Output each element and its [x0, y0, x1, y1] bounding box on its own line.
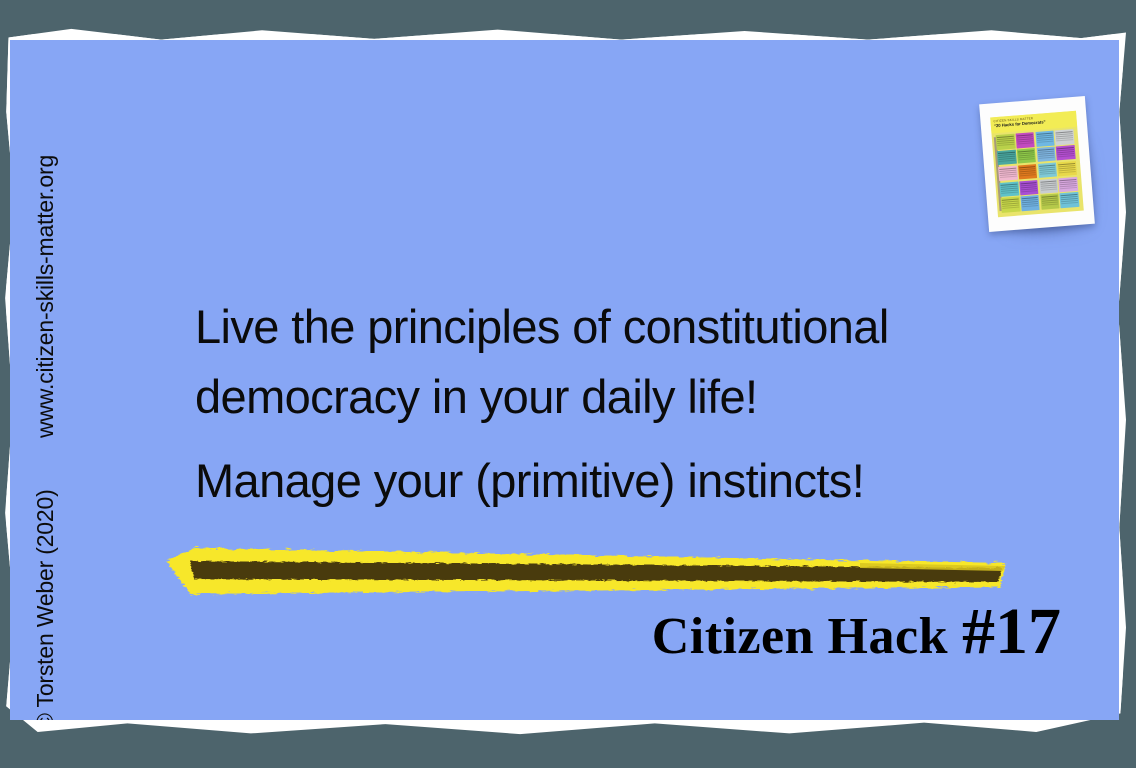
poster-mini-card [1017, 148, 1037, 164]
poster-mini-card [1035, 131, 1055, 147]
poster-mini-card [1018, 164, 1038, 180]
message-line-3: Manage your (primitive) instincts! [195, 446, 1025, 516]
highlighter-dark-core [190, 561, 1002, 582]
hack-number: #17 [962, 594, 1061, 670]
poster-mini-card [1055, 129, 1075, 145]
paragraph-spacer [195, 432, 1025, 446]
side-credits: www.citizen-skills-matter.org © Torsten … [32, 160, 72, 720]
poster-mini-card [1056, 145, 1076, 161]
poster-mini-card [1001, 197, 1021, 213]
poster-mini-card [999, 181, 1019, 197]
message-line-2: democracy in your daily life! [195, 362, 1025, 432]
poster-card-grid [996, 129, 1080, 213]
poster-mini-card [1036, 146, 1056, 162]
poster-mini-card [1015, 132, 1035, 148]
slide-root: www.citizen-skills-matter.org © Torsten … [0, 0, 1136, 768]
copyright-notice: © Torsten Weber (2020) [32, 489, 59, 720]
poster-mini-card [1040, 194, 1060, 210]
poster-mini-card [1020, 195, 1040, 211]
highlighter-tip-edge [860, 563, 1005, 571]
blue-card: www.citizen-skills-matter.org © Torsten … [10, 40, 1119, 720]
poster-mini-card [1057, 161, 1077, 177]
poster-page: CITIZEN SKILLS MATTER “20 Hacks for Demo… [990, 111, 1084, 217]
message-line-1: Live the principles of constitutional [195, 292, 1025, 362]
poster-mini-card [998, 165, 1018, 181]
highlighter-yellow-body [166, 548, 1006, 594]
poster-mini-card [997, 149, 1017, 165]
hack-title-label: Citizen Hack [652, 607, 948, 666]
website-url: www.citizen-skills-matter.org [32, 155, 59, 438]
poster-mini-card [1019, 179, 1039, 195]
main-message: Live the principles of constitutional de… [195, 292, 1025, 516]
poster-mini-card [1059, 176, 1079, 192]
poster-mini-card [1038, 162, 1058, 178]
hack-title: Citizen Hack #17 [652, 594, 1061, 670]
poster-thumbnail[interactable]: CITIZEN SKILLS MATTER “20 Hacks for Demo… [979, 96, 1095, 232]
poster-mini-card [1039, 178, 1059, 194]
poster-mini-card [1060, 192, 1080, 208]
poster-mini-card [996, 134, 1016, 150]
